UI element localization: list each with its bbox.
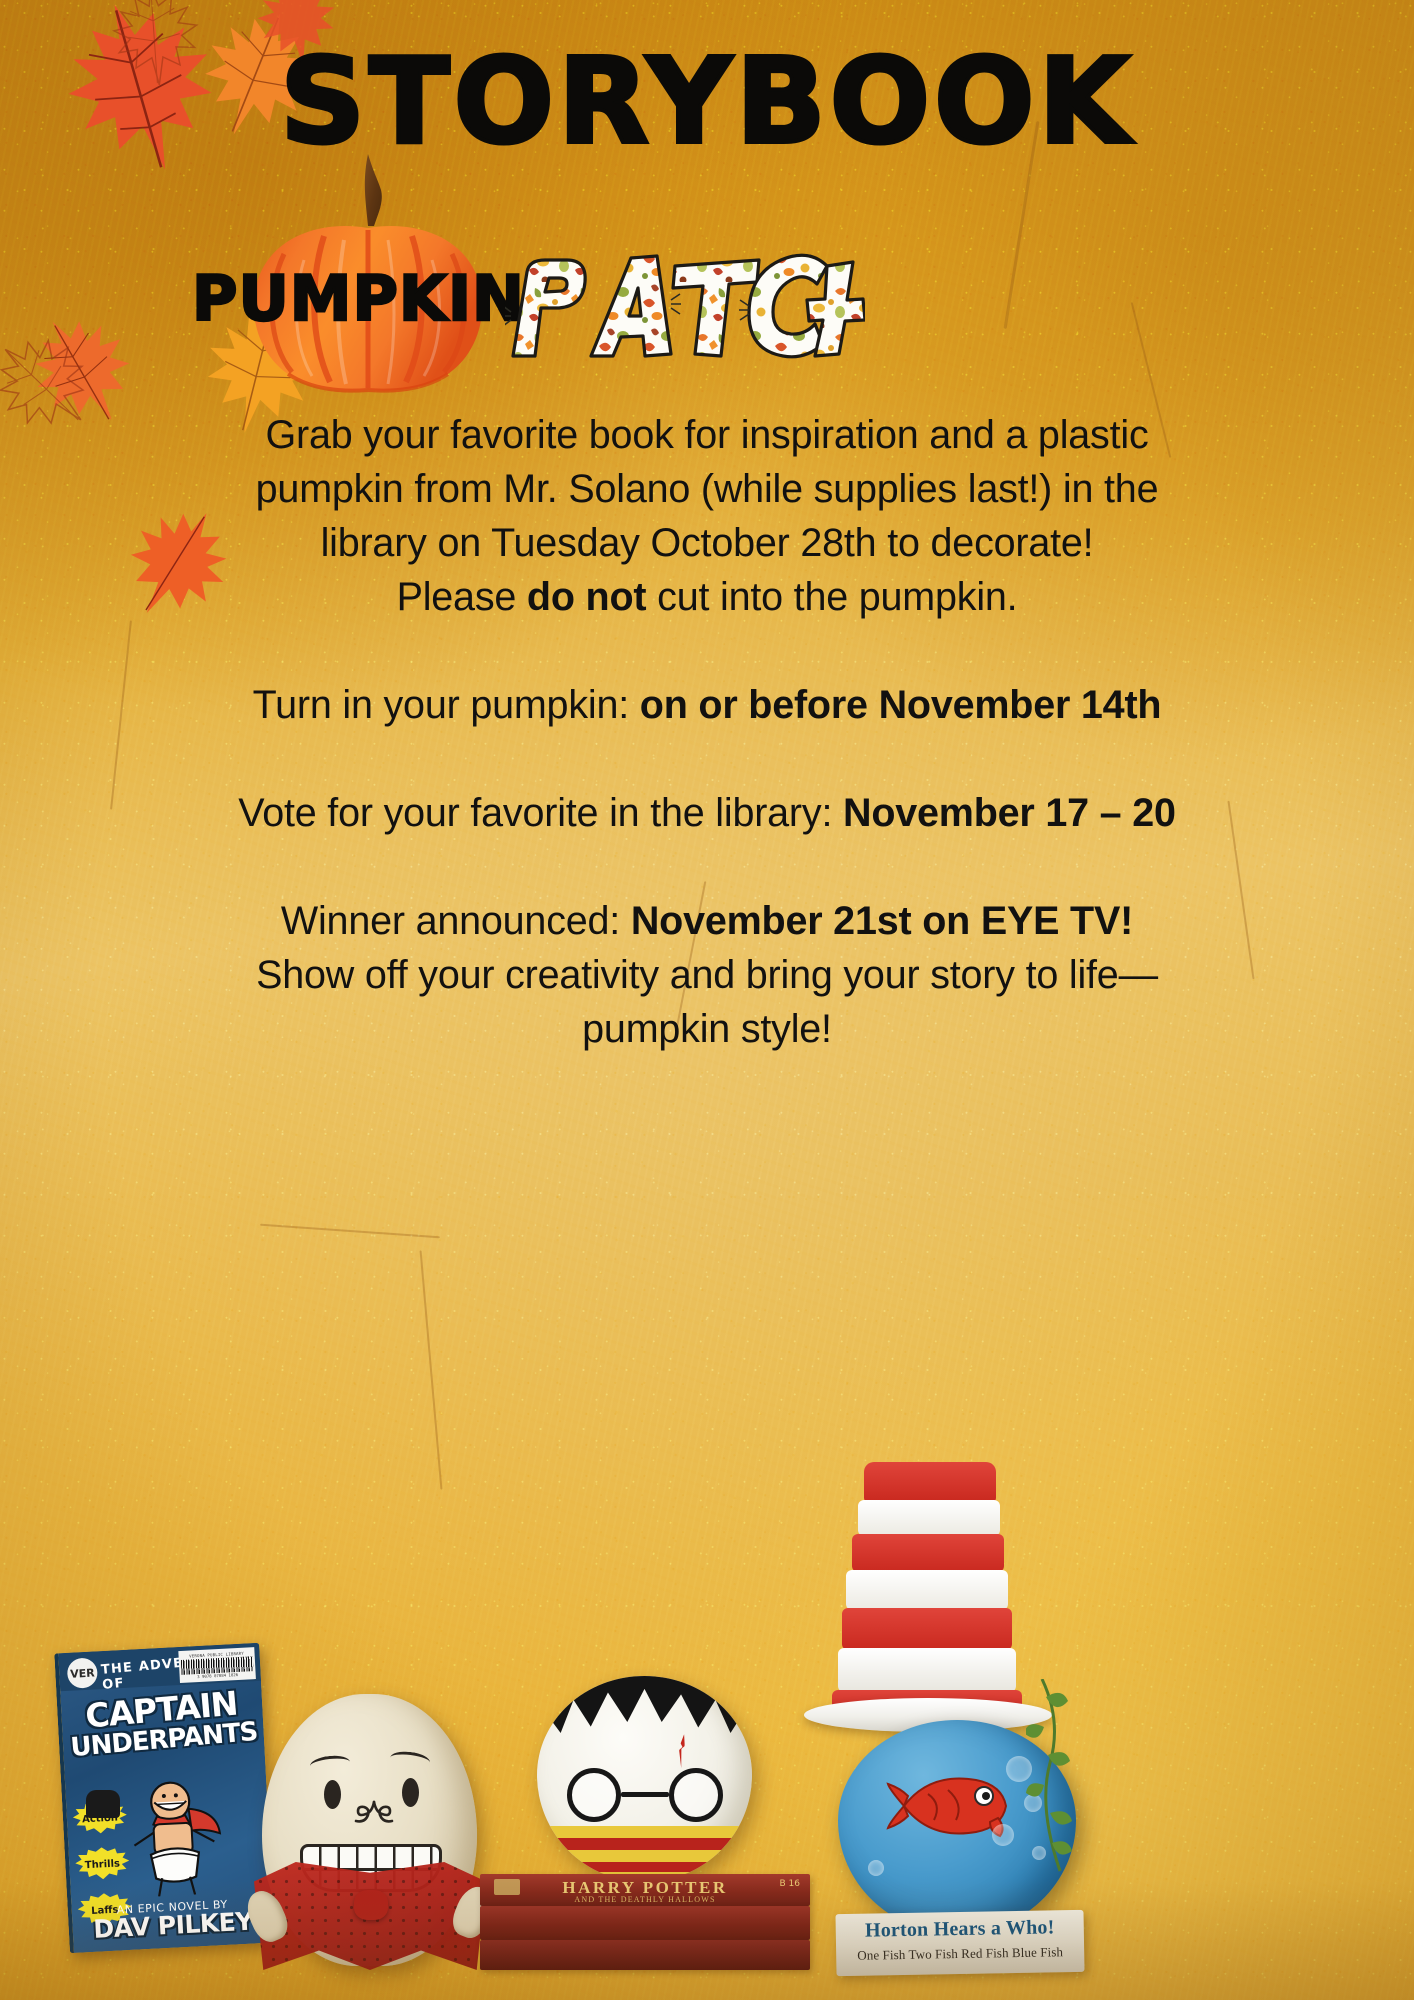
turn-in-line: Turn in your pumpkin: on or before Novem… [40,678,1374,732]
hat-stripe-red [864,1462,996,1502]
lens-right [669,1768,723,1822]
pumpkin-stem [86,1790,120,1818]
water-bubble [992,1824,1014,1846]
barcode-sticker: VERONA PUBLIC LIBRARY 3 9078 07084 1826 [178,1647,256,1683]
scarf-stripe [537,1826,752,1838]
eyebrow-left [309,1754,350,1774]
eyebrow-right [389,1750,431,1771]
round-glasses-icon [567,1768,723,1824]
closing-line2: pumpkin style! [40,1002,1374,1056]
para1-line3: library on Tuesday October 28th to decor… [40,516,1374,570]
hat-stripe-red [842,1608,1012,1650]
cut-into-text: cut into the pumpkin. [646,575,1017,619]
page-title: STORYBOOK [0,42,1414,160]
spacer [40,624,1374,678]
turn-in-date: on or before November 14th [640,683,1162,727]
para1-line4: Please do not cut into the pumpkin. [40,570,1374,624]
body-copy: Grab your favorite book for inspiration … [40,408,1374,1056]
para1-line2: pumpkin from Mr. Solano (while supplies … [40,462,1374,516]
scarf-stripe [537,1850,752,1862]
do-not-emphasis: do not [527,575,646,619]
turn-in-label: Turn in your pumpkin: [253,683,640,727]
lens-left [567,1768,621,1822]
vote-line: Vote for your favorite in the library: N… [40,786,1374,840]
vote-dates: November 17 – 20 [843,791,1176,835]
harry-potter-pumpkin [537,1676,752,1882]
vote-label: Vote for your favorite in the library: [238,791,843,835]
water-bubble [868,1860,884,1876]
please-text: Please [397,575,527,619]
para1-line1: Grab your favorite book for inspiration … [40,408,1374,462]
spacer [40,732,1374,786]
winner-label: Winner announced: [281,899,631,943]
cat-in-the-hat-hat-icon [840,1462,1016,1732]
glasses-bridge [621,1792,669,1797]
hair [537,1676,752,1768]
nose-icon [352,1800,396,1830]
winner-date: November 21st on EYE TV! [631,899,1133,943]
hat-stripe-white [858,1500,1000,1536]
hat-stripe-red [852,1534,1004,1572]
logo-word-patch [505,236,865,369]
closing-line1: Show off your creativity and bring your … [40,948,1374,1002]
logo-word-pumpkin: PUMPKIN [192,262,525,335]
eye-left [324,1780,341,1809]
scarf-stripe [537,1838,752,1850]
book-title: CAPTAIN UNDERPANTS [60,1685,266,1764]
spacer [40,840,1374,894]
ivy-vine-icon [1026,1679,1102,1880]
winner-line: Winner announced: November 21st on EYE T… [40,894,1374,948]
ground-shadow [0,1880,1414,2000]
eye-right [402,1778,419,1807]
hat-stripe-white [838,1648,1016,1692]
hat-stripe-white [846,1570,1008,1610]
pumpkin-photo-strip: VER THE ADVENTURES OF VERONA PUBLIC LIBR… [0,1380,1414,2000]
lightning-scar-icon [677,1734,687,1768]
